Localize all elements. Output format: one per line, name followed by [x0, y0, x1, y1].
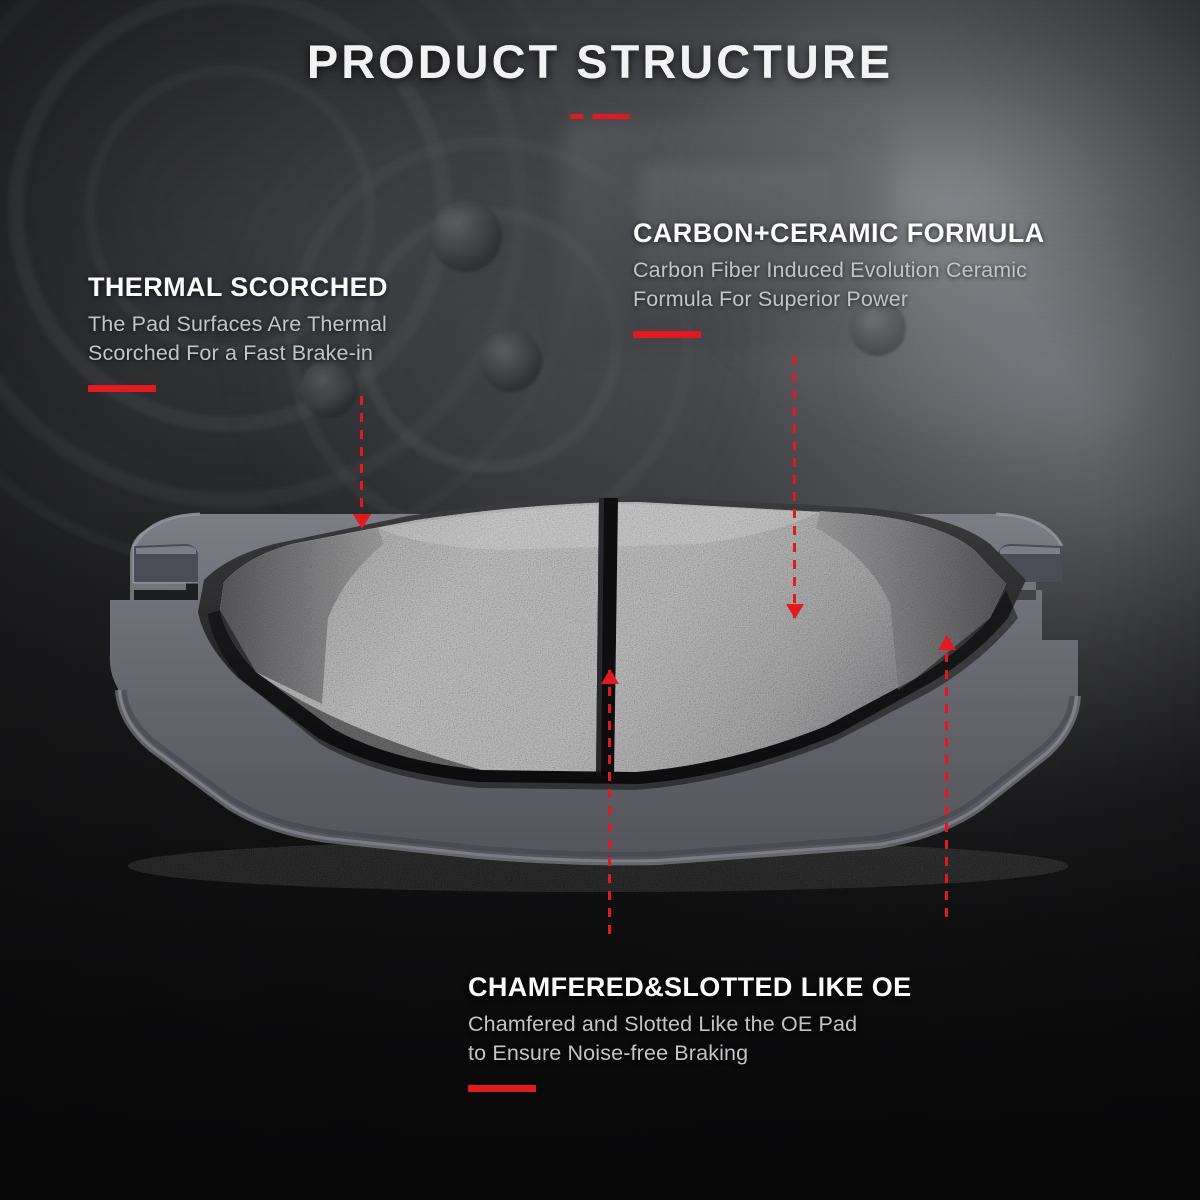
callout-heading: CHAMFERED&SLOTTED LIKE OE [468, 972, 1048, 1002]
accent-dash-short [571, 114, 584, 119]
page-title: PRODUCT STRUCTURE [0, 38, 1200, 85]
arrowhead-up-icon [938, 635, 956, 650]
leader-line-chamfer [945, 636, 948, 922]
leader-line-thermal-scorched [360, 396, 363, 528]
leader-line-carbon-ceramic [793, 356, 796, 618]
hub-bolt-hole-icon [430, 200, 502, 272]
leader-dashes [360, 396, 363, 528]
arrowhead-down-icon [353, 514, 371, 529]
callout-body-line-1: Carbon Fiber Induced Evolution Ceramic [633, 258, 1027, 282]
callout-accent-bar [88, 385, 156, 392]
title-accent-marker [571, 114, 630, 119]
callout-body-line-1: Chamfered and Slotted Like the OE Pad [468, 1012, 857, 1036]
brake-pad-illustration [78, 404, 1118, 884]
callout-body: The Pad Surfaces Are Thermal Scorched Fo… [88, 310, 508, 368]
accent-dash-long [593, 114, 630, 119]
product-structure-infographic: PRODUCT STRUCTURE [0, 0, 1200, 1200]
callout-thermal-scorched: THERMAL SCORCHED The Pad Surfaces Are Th… [88, 272, 508, 392]
callout-accent-bar [633, 331, 701, 338]
callout-chamfered-slotted-like-oe: CHAMFERED&SLOTTED LIKE OE Chamfered and … [468, 972, 1048, 1092]
arrowhead-up-icon [601, 669, 619, 684]
callout-body: Carbon Fiber Induced Evolution Ceramic F… [633, 256, 1178, 314]
callout-body-line-1: The Pad Surfaces Are Thermal [88, 312, 387, 336]
callout-heading: THERMAL SCORCHED [88, 272, 508, 302]
leader-dashes [608, 670, 611, 942]
callout-body-line-2: Formula For Superior Power [633, 287, 908, 311]
callout-carbon-ceramic-formula: CARBON+CERAMIC FORMULA Carbon Fiber Indu… [633, 218, 1178, 338]
callout-body-line-2: to Ensure Noise-free Braking [468, 1041, 748, 1065]
leader-dashes [945, 636, 948, 922]
arrowhead-down-icon [786, 604, 804, 619]
leader-line-slot [608, 670, 611, 942]
callout-heading: CARBON+CERAMIC FORMULA [633, 218, 1178, 248]
callout-accent-bar [468, 1085, 536, 1092]
callout-body: Chamfered and Slotted Like the OE Pad to… [468, 1010, 1048, 1068]
callout-body-line-2: Scorched For a Fast Brake-in [88, 341, 373, 365]
leader-dashes [793, 356, 796, 618]
